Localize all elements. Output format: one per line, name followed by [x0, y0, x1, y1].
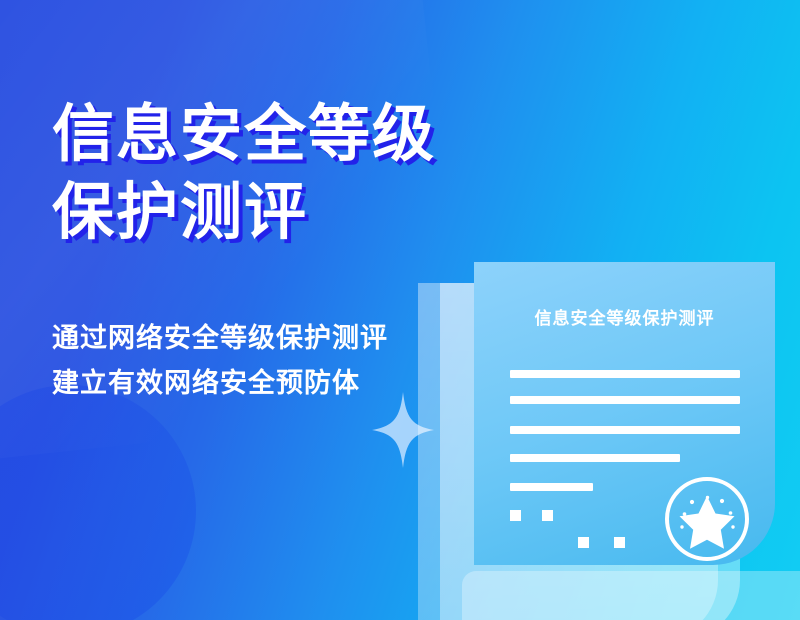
- certificate-card: 信息安全等级保护测评: [474, 262, 775, 565]
- promo-banner: 信息安全等级 保护测评 通过网络安全等级保护测评 建立有效网络安全预防体 信息安…: [0, 0, 800, 620]
- certificate-content-lines: [510, 370, 740, 491]
- certificate-line-1: [510, 370, 740, 378]
- bottom-overlay-band: [462, 571, 800, 620]
- certificate-marker-square-3: [578, 537, 589, 548]
- certificate-line-4: [510, 454, 680, 462]
- page-title: 信息安全等级 保护测评: [52, 96, 436, 252]
- certificate-line-2: [510, 396, 740, 404]
- certificate-title: 信息安全等级保护测评: [474, 304, 775, 329]
- page-title-line-1: 信息安全等级: [52, 96, 436, 174]
- page-subtitle-line-2: 建立有效网络安全预防体: [52, 361, 388, 406]
- page-subtitle-line-1: 通过网络安全等级保护测评: [52, 316, 388, 361]
- certificate-line-3: [510, 426, 740, 434]
- certificate-marker-square-2: [542, 510, 553, 521]
- certificate-seal-star-icon: [662, 474, 752, 564]
- certificate-marker-square-4: [614, 537, 625, 548]
- certificate-marker-square-1: [510, 510, 521, 521]
- background-circle-decor: [0, 385, 196, 620]
- certificate-line-5: [510, 483, 593, 491]
- page-subtitle: 通过网络安全等级保护测评 建立有效网络安全预防体: [52, 316, 388, 406]
- page-title-line-2: 保护测评: [52, 174, 436, 252]
